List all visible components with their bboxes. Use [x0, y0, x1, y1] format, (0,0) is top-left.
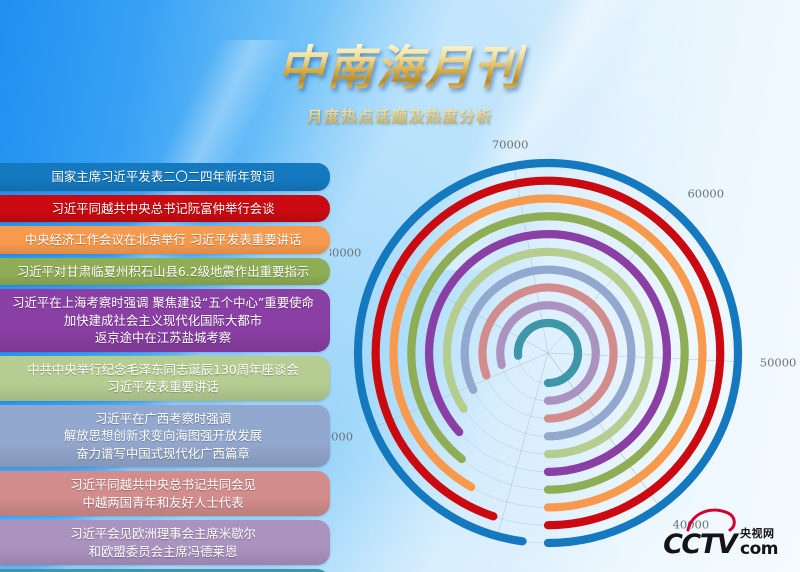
axis-tick-label: 80000 — [330, 246, 361, 260]
radial-chart-svg: 400005000060000700008000090000100000 — [330, 130, 800, 550]
topic-item-line: 习近平在上海考察时强调 聚焦建设“五个中心”重要使命 — [6, 294, 320, 312]
topic-legend-list: 国家主席习近平发表二〇二四年新年贺词习近平同越共中央总书记阮富仲举行会谈中央经济… — [0, 163, 330, 572]
topic-item-7[interactable]: 习近平在广西考察时强调解放思想创新求变向海图强开放发展奋力谱写中国式现代化广西篇… — [0, 405, 330, 468]
topic-item-line: 解放思想创新求变向海图强开放发展 — [6, 427, 320, 445]
topic-item-line: 习近平同越共中央总书记阮富仲举行会谈 — [6, 200, 320, 218]
cctv-wordmark: CCTV — [663, 531, 736, 558]
topic-item-line: 习近平同越共中央总书记共同会见 — [6, 476, 320, 494]
topic-item-line: 中央经济工作会议在北京举行 习近平发表重要讲话 — [6, 231, 320, 249]
topic-item-line: 习近平在广西考察时强调 — [6, 410, 320, 428]
page-title: 中南海月刊 — [0, 44, 800, 94]
axis-tick-label: 60000 — [687, 186, 724, 200]
axis-tick-label: 50000 — [760, 356, 797, 370]
topic-item-5[interactable]: 习近平在上海考察时强调 聚焦建设“五个中心”重要使命加快建成社会主义现代化国际大… — [0, 289, 330, 352]
topic-item-3[interactable]: 中央经济工作会议在北京举行 习近平发表重要讲话 — [0, 226, 330, 254]
cctv-swoosh-icon — [686, 508, 738, 532]
topic-item-line: 返京途中在江苏盐城考察 — [6, 329, 320, 347]
topic-item-line: 和欧盟委员会主席冯德莱恩 — [6, 543, 320, 561]
topic-item-line: 习近平对甘肃临夏州积石山县6.2级地震作出重要指示 — [6, 263, 320, 281]
topic-item-line: 中共中央举行纪念毛泽东同志诞辰130周年座谈会 — [6, 361, 320, 379]
topic-item-line: 习近平发表重要讲话 — [6, 378, 320, 396]
topic-item-line: 奋力谱写中国式现代化广西篇章 — [6, 445, 320, 463]
topic-item-line: 加快建成社会主义现代化国际大都市 — [6, 312, 320, 330]
topic-item-8[interactable]: 习近平同越共中央总书记共同会见中越两国青年和友好人士代表 — [0, 471, 330, 516]
topic-item-line: 习近平会见欧洲理事会主席米歇尔 — [6, 525, 320, 543]
topic-item-line: 中越两国青年和友好人士代表 — [6, 494, 320, 512]
cctv-com-text: com — [740, 541, 778, 558]
topic-item-6[interactable]: 中共中央举行纪念毛泽东同志诞辰130周年座谈会习近平发表重要讲话 — [0, 356, 330, 401]
topic-item-9[interactable]: 习近平会见欧洲理事会主席米歇尔和欧盟委员会主席冯德莱恩 — [0, 520, 330, 565]
topic-item-line: 国家主席习近平发表二〇二四年新年贺词 — [6, 168, 320, 186]
topic-item-4[interactable]: 习近平对甘肃临夏州积石山县6.2级地震作出重要指示 — [0, 258, 330, 286]
page-header: 中南海月刊 月度热点话题及热度分析 — [0, 44, 800, 127]
topic-item-2[interactable]: 习近平同越共中央总书记阮富仲举行会谈 — [0, 195, 330, 223]
radial-bar-chart: 400005000060000700008000090000100000 — [330, 130, 800, 550]
cctv-logo-right: 央视网 com — [740, 529, 778, 558]
page-subtitle: 月度热点话题及热度分析 — [0, 105, 800, 127]
axis-tick-label: 70000 — [492, 137, 529, 151]
cctv-logo: CCTV 央视网 com — [663, 529, 778, 558]
topic-item-1[interactable]: 国家主席习近平发表二〇二四年新年贺词 — [0, 163, 330, 191]
axis-tick-label: 90000 — [330, 429, 353, 443]
